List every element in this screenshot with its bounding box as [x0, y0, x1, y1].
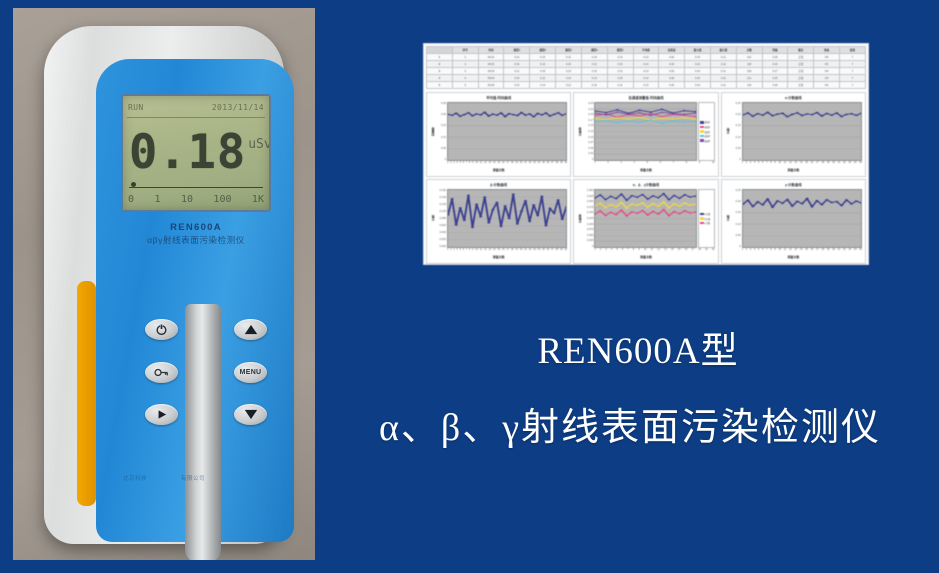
chart-y-tick: 0.175	[587, 206, 594, 209]
chart-x-tick: 29	[560, 248, 563, 255]
chart-body: 计数0.250.200.150.100.050	[725, 102, 862, 161]
chart-x-tick: 2	[450, 248, 451, 255]
chart-legend-item: 通道2	[700, 125, 713, 129]
table-cell: 2	[452, 61, 478, 68]
table-row[interactable]: 3309:030.110.160.130.150.120.130.020.160…	[427, 68, 866, 75]
chart-y-tick: 0.05	[736, 234, 741, 237]
chart-x-axis-label: 测量次数	[430, 168, 567, 174]
device-model-text: REN600A	[106, 222, 286, 233]
lcd-status-left: RUN	[128, 103, 144, 112]
chart-x-tick: 15	[805, 161, 808, 168]
chart-y-tick: 0.160	[440, 189, 447, 192]
lcd-status-bar: RUN 2013/11/14	[128, 100, 264, 115]
chart-x-tick: 21	[838, 161, 841, 168]
device-footer-left: 北京科技	[123, 474, 147, 482]
chart-x-tick: 1	[742, 248, 743, 255]
chart-x-tick: 11	[784, 161, 786, 168]
chart-legend: 通道1通道2通道3通道4通道5	[698, 102, 715, 161]
device-down-button[interactable]	[234, 404, 267, 425]
chart-x-axis-label: 测量次数	[430, 255, 567, 261]
chart-x-tick: 16	[685, 248, 688, 255]
table-cell: 0.16	[607, 75, 633, 82]
table-cell: OK	[814, 75, 840, 82]
chart-x-tick: 15	[678, 248, 681, 255]
chart-y-tick: 0.25	[736, 102, 741, 105]
software-screenshot-panel: 序号时间通道1通道2通道3通道4通道5平均值标准差最大值最小值计数剂量备注状态校…	[423, 43, 869, 265]
chart-x-tick: 7	[673, 161, 674, 168]
chart-x-tick: 14	[800, 248, 803, 255]
table-corner-cell	[427, 47, 453, 54]
chart-x-tick: 11	[651, 248, 653, 255]
chart-plot-area	[447, 189, 567, 248]
device-up-button[interactable]	[234, 319, 267, 340]
chart-legend-item: 通道3	[700, 130, 713, 134]
table-cell: OK	[814, 61, 840, 68]
chart-y-tick: 0	[739, 245, 740, 248]
chart-y-tick: 0.15	[441, 124, 446, 127]
table-column-header: 序号	[452, 47, 478, 54]
chart-x-tick: 3	[605, 248, 606, 255]
chart-x-tick: 11	[480, 248, 482, 255]
chart-x-tick: 14	[493, 248, 496, 255]
chart-x-tick: 24	[854, 161, 857, 168]
device-menu-button[interactable]: MENU	[234, 362, 267, 383]
table-cell: 0.13	[530, 61, 556, 68]
chart-y-ticks: 0.1600.1400.1200.1000.0800.0600.0400.020…	[436, 189, 447, 248]
chart-x-tick: 9	[699, 161, 700, 168]
chart-title: 各通道测量值-时间曲线	[577, 95, 714, 102]
chart-x-tick: 17	[816, 161, 819, 168]
chart-y-tick: 0.15	[736, 211, 741, 214]
table-cell: 4	[452, 75, 478, 82]
chart-x-tick: 3	[453, 248, 454, 255]
chart-y-tick: 0.22	[588, 108, 593, 111]
table-cell: 0.14	[633, 61, 659, 68]
chart-x-tick: 17	[816, 248, 819, 255]
chart-x-tick: 25	[542, 161, 545, 168]
chart-x-tick: 8	[469, 248, 470, 255]
table-cell: OK	[814, 68, 840, 75]
chart-x-tick: 26	[547, 248, 550, 255]
chart-x-tick: 20	[832, 161, 835, 168]
chart-legend-item: 通道4	[700, 134, 713, 138]
chart-y-tick: 0.025	[587, 239, 594, 242]
device-play-button[interactable]	[145, 404, 178, 425]
chart-y-tick: 0.20	[736, 200, 741, 203]
triangle-up-icon	[244, 324, 258, 335]
chart-title: α、β、γ计数曲线	[577, 182, 714, 189]
chart-x-ticks: 1234567891011121314151617181920212223242…	[447, 161, 567, 168]
chart-legend: α计数β计数γ计数	[698, 189, 715, 248]
measurement-data-table: 序号时间通道1通道2通道3通道4通道5平均值标准差最大值最小值计数剂量备注状态校…	[426, 46, 866, 89]
chart-x-tick: 23	[533, 161, 536, 168]
table-cell: 0.13	[633, 54, 659, 61]
chart-x-tick: 1	[447, 161, 448, 168]
chart-x-tick: 14	[493, 161, 496, 168]
chart-x-tick: 19	[515, 161, 518, 168]
table-cell: 0.12	[530, 75, 556, 82]
chart-y-tick: 0.25	[736, 189, 741, 192]
chart-y-tick: 0.020	[440, 238, 447, 241]
lcd-value: 0.18	[129, 129, 246, 176]
table-cell: 0.16	[581, 82, 607, 89]
product-model-title: REN600A型	[330, 320, 930, 374]
chart-x-tick: 20	[832, 248, 835, 255]
lcd-tick: 1	[154, 194, 160, 205]
chart-y-tick: 0.040	[440, 231, 447, 234]
table-cell: 0.17	[762, 68, 788, 75]
table-cell: Y	[840, 54, 866, 61]
chart-x-tick: 20	[520, 161, 523, 168]
chart-x-tick: 25	[542, 248, 545, 255]
chart-x-ticks: 1234567891011121314151617181920212223242…	[742, 161, 862, 168]
chart-y-axis-label: 剂量率	[430, 102, 436, 161]
table-column-header: 备注	[788, 47, 814, 54]
chart-x-tick: 30	[564, 248, 567, 255]
chart-body: 计数率0.2500.2250.2000.1750.1500.1250.1000.…	[577, 189, 714, 248]
chart-x-tick: 11	[784, 248, 786, 255]
chart-x-tick: 10	[778, 248, 781, 255]
legend-label: 通道4	[704, 134, 710, 138]
device-search-button[interactable]	[145, 362, 178, 383]
chart-x-tick: 5	[616, 248, 617, 255]
table-cell: 09:03	[478, 68, 504, 75]
table-cell: 0.14	[530, 82, 556, 89]
chart-x-tick: 4	[754, 161, 755, 168]
table-column-header: 平均值	[633, 47, 659, 54]
chart-x-tick: 13	[794, 248, 797, 255]
chart-y-ticks: 0.250.200.150.100.050	[436, 102, 447, 161]
table-cell: 0.12	[710, 61, 736, 68]
chart-x-ticks: 1234567891011121314151617181920212223242…	[742, 248, 862, 255]
chart-y-tick: 0.050	[587, 234, 594, 237]
triangle-down-icon	[244, 409, 258, 420]
chart-x-tick: 9	[472, 248, 473, 255]
chart-y-axis-label: 计数率	[577, 102, 583, 161]
chart-x-tick: 10	[475, 161, 478, 168]
chart-x-tick: 18	[821, 161, 824, 168]
chart-card: β-计数曲线计数0.1600.1400.1200.1000.0800.0600.…	[426, 179, 571, 264]
device-menu-label: MENU	[240, 369, 262, 376]
chart-x-tick: 19	[827, 161, 830, 168]
legend-label: γ计数	[704, 221, 710, 225]
chart-y-axis-label: 计数	[725, 102, 731, 161]
device-footer-text: 北京科技 有限公司	[44, 474, 284, 482]
product-description-title: α、β、γ射线表面污染检测仪	[330, 396, 930, 451]
chart-x-tick: 16	[502, 248, 505, 255]
chart-x-tick: 9	[774, 248, 775, 255]
chart-legend-item: γ计数	[700, 221, 713, 225]
lcd-tick: 10	[181, 194, 193, 205]
chart-y-tick: 0.07	[588, 141, 593, 144]
chart-x-tick: 3	[750, 248, 751, 255]
legend-label: α计数	[704, 212, 710, 216]
legend-swatch	[700, 213, 704, 215]
title-block: REN600A型 α、β、γ射线表面污染检测仪	[330, 320, 930, 451]
device-power-button[interactable]	[145, 319, 178, 340]
table-cell: 0.15	[530, 54, 556, 61]
chart-x-tick: 5	[647, 161, 648, 168]
table-cell: 0.11	[710, 54, 736, 61]
chart-x-tick: 25	[859, 161, 862, 168]
table-cell: 0.15	[685, 54, 711, 61]
table-cell: 正常	[788, 54, 814, 61]
chart-x-tick: 5	[460, 248, 461, 255]
chart-y-tick: 0.15	[736, 124, 741, 127]
table-cell: 0.11	[607, 82, 633, 89]
chart-x-tick: 25	[859, 248, 862, 255]
table-column-header: 通道4	[581, 47, 607, 54]
chart-x-tick: 13	[488, 161, 491, 168]
chart-card: γ-计数曲线计数0.250.200.150.100.05012345678910…	[721, 179, 866, 264]
chart-x-tick: 22	[843, 161, 846, 168]
chart-y-tick: 0.17	[588, 119, 593, 122]
chart-y-tick: 0.05	[736, 147, 741, 150]
table-cell: 5	[452, 82, 478, 89]
chart-x-axis-label: 测量次数	[577, 168, 714, 174]
table-row[interactable]: 5509:050.130.140.120.160.110.130.020.160…	[427, 82, 866, 89]
chart-x-tick: 6	[463, 161, 464, 168]
chart-x-tick: 30	[564, 161, 567, 168]
table-cell: 0.11	[710, 82, 736, 89]
table-cell: 0.16	[556, 61, 582, 68]
chart-x-tick: 12	[484, 161, 487, 168]
chart-x-tick: 7	[627, 248, 628, 255]
chart-x-tick: 23	[533, 248, 536, 255]
legend-label: 通道1	[704, 120, 710, 124]
table-row[interactable]: 1109:010.120.150.110.140.130.130.020.150…	[427, 54, 866, 61]
lcd-status-right: 2013/11/14	[212, 103, 264, 112]
chart-x-tick: 5	[758, 248, 759, 255]
chart-x-tick: 28	[556, 161, 559, 168]
chart-y-tick: 0.075	[587, 228, 594, 231]
chart-x-tick: 6	[622, 248, 623, 255]
chart-card: 各通道测量值-时间曲线计数率0.250.220.200.170.150.120.…	[573, 92, 718, 177]
chart-y-tick: 0.10	[588, 136, 593, 139]
product-photo: RUN 2013/11/14 0.18 uSv/h 0 1 10 100 1K	[13, 8, 315, 560]
table-cell: 112	[736, 54, 762, 61]
table-cell: 115	[736, 82, 762, 89]
legend-label: 通道2	[704, 125, 710, 129]
table-header: 序号时间通道1通道2通道3通道4通道5平均值标准差最大值最小值计数剂量备注状态校…	[427, 47, 866, 54]
chart-x-tick: 3	[620, 161, 621, 168]
chart-x-axis-label: 测量次数	[725, 255, 862, 261]
table-cell: 0.02	[659, 75, 685, 82]
chart-x-tick: 11	[480, 161, 482, 168]
chart-x-tick: 8	[633, 248, 634, 255]
table-cell: Y	[840, 82, 866, 89]
chart-x-tick: 6	[463, 248, 464, 255]
chart-x-tick: 10	[644, 248, 647, 255]
table-cell: 0.12	[710, 75, 736, 82]
chart-legend-item: 通道1	[700, 120, 713, 124]
chart-x-tick: 28	[556, 248, 559, 255]
chart-x-tick: 17	[691, 248, 694, 255]
lcd-scale-ticks: 0 1 10 100 1K	[128, 191, 264, 207]
chart-x-tick: 21	[838, 248, 841, 255]
table-row[interactable]: 4409:040.150.120.140.130.160.140.020.160…	[427, 75, 866, 82]
chart-body: 计数0.250.200.150.100.050	[725, 189, 862, 248]
chart-x-tick: 15	[497, 248, 500, 255]
table-cell: 0.15	[504, 75, 530, 82]
chart-legend-item: α计数	[700, 212, 713, 216]
chart-x-axis-label: 测量次数	[577, 255, 714, 261]
table-header-row: 序号时间通道1通道2通道3通道4通道5平均值标准差最大值最小值计数剂量备注状态校…	[427, 47, 866, 54]
table-cell: 0.02	[659, 82, 685, 89]
chart-x-tick: 5	[758, 161, 759, 168]
table-column-header: 计数	[736, 47, 762, 54]
table-cell: 正常	[788, 75, 814, 82]
chart-x-tick: 19	[515, 248, 518, 255]
table-cell: 0.19	[762, 61, 788, 68]
chart-y-tick: 0.25	[441, 102, 446, 105]
table-cell: 109	[736, 68, 762, 75]
chart-plot-area	[742, 102, 862, 161]
legend-swatch	[700, 126, 704, 128]
chart-x-tick: 8	[469, 161, 470, 168]
table-cell: Y	[840, 61, 866, 68]
chart-x-tick: 18	[698, 248, 701, 255]
table-cell: 0.13	[633, 68, 659, 75]
chart-x-tick: 2	[600, 248, 601, 255]
chart-x-tick: 18	[511, 161, 514, 168]
chart-x-tick: 19	[827, 248, 830, 255]
table-cell: OK	[814, 82, 840, 89]
table-cell: 0.14	[633, 75, 659, 82]
chart-x-tick: 9	[774, 161, 775, 168]
legend-swatch	[700, 222, 704, 224]
chart-y-tick: 0.140	[440, 196, 447, 199]
chart-y-tick: 0.10	[441, 136, 446, 139]
chart-x-tick: 27	[551, 161, 554, 168]
chart-x-tick: 23	[848, 248, 851, 255]
table-row[interactable]: 2209:020.140.130.160.120.150.140.020.160…	[427, 61, 866, 68]
legend-label: β计数	[704, 217, 710, 221]
chart-y-tick: 0.20	[736, 113, 741, 116]
chart-x-tick: 6	[762, 248, 763, 255]
chart-y-ticks: 0.250.200.150.100.050	[731, 189, 742, 248]
chart-y-axis-label: 计数	[430, 189, 436, 248]
table-cell: 0.12	[504, 54, 530, 61]
table-cell: 0.02	[659, 54, 685, 61]
chart-x-tick: 22	[529, 161, 532, 168]
chart-x-tick: 1	[447, 248, 448, 255]
table-column-header: 通道2	[530, 47, 556, 54]
chart-y-tick: 0.125	[587, 217, 594, 220]
chart-body: 计数0.1600.1400.1200.1000.0800.0600.0400.0…	[430, 189, 567, 248]
chart-x-tick: 8	[686, 161, 687, 168]
table-cell: 0.18	[762, 82, 788, 89]
device-handle-strip	[185, 304, 221, 560]
chart-x-tick: 15	[497, 161, 500, 168]
chart-x-tick: 4	[754, 248, 755, 255]
chart-y-tick: 0.250	[587, 189, 594, 192]
chart-legend-item: 通道5	[700, 139, 713, 143]
table-cell: 正常	[788, 61, 814, 68]
chart-y-tick: 0.10	[736, 223, 741, 226]
chart-x-tick: 1	[742, 161, 743, 168]
chart-x-tick: 6	[660, 161, 661, 168]
chart-card: 平均值-时间曲线剂量率0.250.200.150.100.05012345678…	[426, 92, 571, 177]
chart-x-tick: 26	[547, 161, 550, 168]
chart-plot-area	[742, 189, 862, 248]
chart-x-tick: 10	[475, 248, 478, 255]
chart-x-tick: 12	[657, 248, 660, 255]
chart-x-tick: 24	[538, 248, 541, 255]
power-icon	[155, 323, 168, 336]
table-cell: 正常	[788, 68, 814, 75]
chart-y-axis-label: 计数率	[577, 189, 583, 248]
chart-x-tick: 2	[450, 161, 451, 168]
table-cell: 09:05	[478, 82, 504, 89]
chart-y-tick: 0.02	[588, 152, 593, 155]
chart-title: 平均值-时间曲线	[430, 95, 567, 102]
chart-y-tick: 0	[592, 158, 593, 161]
charts-grid: 平均值-时间曲线剂量率0.250.200.150.100.05012345678…	[426, 92, 866, 264]
chart-x-tick: 14	[671, 248, 674, 255]
legend-label: 通道3	[704, 130, 710, 134]
table-cell: 0.13	[556, 68, 582, 75]
chart-y-tick: 0.225	[587, 195, 594, 198]
legend-swatch	[700, 130, 704, 132]
chart-y-tick: 0	[592, 245, 593, 248]
table-cell: 0.14	[556, 75, 582, 82]
chart-x-tick: 27	[551, 248, 554, 255]
table-cell: 121	[736, 75, 762, 82]
chart-y-tick: 0.25	[588, 102, 593, 105]
chart-x-tick: 4	[611, 248, 612, 255]
table-column-header: 最小值	[710, 47, 736, 54]
chart-y-tick: 0.120	[440, 203, 447, 206]
play-icon	[156, 409, 168, 420]
chart-y-tick: 0.05	[588, 147, 593, 150]
chart-x-tick: 4	[456, 248, 457, 255]
chart-x-tick: 3	[453, 161, 454, 168]
table-cell: 0.16	[685, 61, 711, 68]
chart-y-tick: 0.060	[440, 224, 447, 227]
table-column-header: 标准差	[659, 47, 685, 54]
device-grip-left	[77, 281, 96, 506]
table-cell: 0.16	[685, 82, 711, 89]
legend-swatch	[700, 217, 704, 219]
device-housing: RUN 2013/11/14 0.18 uSv/h 0 1 10 100 1K	[44, 26, 284, 544]
chart-x-tick: 20	[712, 248, 715, 255]
lcd-divider	[127, 117, 265, 118]
legend-swatch	[700, 135, 704, 137]
chart-card: α、β、γ计数曲线计数率0.2500.2250.2000.1750.1500.1…	[573, 179, 718, 264]
chart-body: 剂量率0.250.200.150.100.050	[430, 102, 567, 161]
chart-x-tick: 8	[770, 161, 771, 168]
chart-x-tick: 22	[529, 248, 532, 255]
chart-x-ticks: 1234567891011121314151617181920	[594, 248, 714, 255]
chart-x-tick: 13	[794, 161, 797, 168]
chart-x-tick: 21	[524, 248, 527, 255]
table-cell: 0.14	[504, 61, 530, 68]
lcd-bargraph-axis	[129, 187, 263, 188]
table-cell: 0.11	[504, 68, 530, 75]
chart-body: 计数率0.250.220.200.170.150.120.100.070.050…	[577, 102, 714, 161]
table-cell: 0.11	[556, 54, 582, 61]
table-row-header: 4	[427, 75, 453, 82]
table-column-header: 通道3	[556, 47, 582, 54]
device-subtitle-text: αβγ射线表面污染检测仪	[106, 234, 286, 246]
chart-x-tick: 22	[843, 248, 846, 255]
table-cell: 0.13	[633, 82, 659, 89]
table-cell: 0.12	[607, 68, 633, 75]
chart-x-tick: 16	[502, 161, 505, 168]
table-cell: 09:04	[478, 75, 504, 82]
table-cell: 0.16	[685, 68, 711, 75]
